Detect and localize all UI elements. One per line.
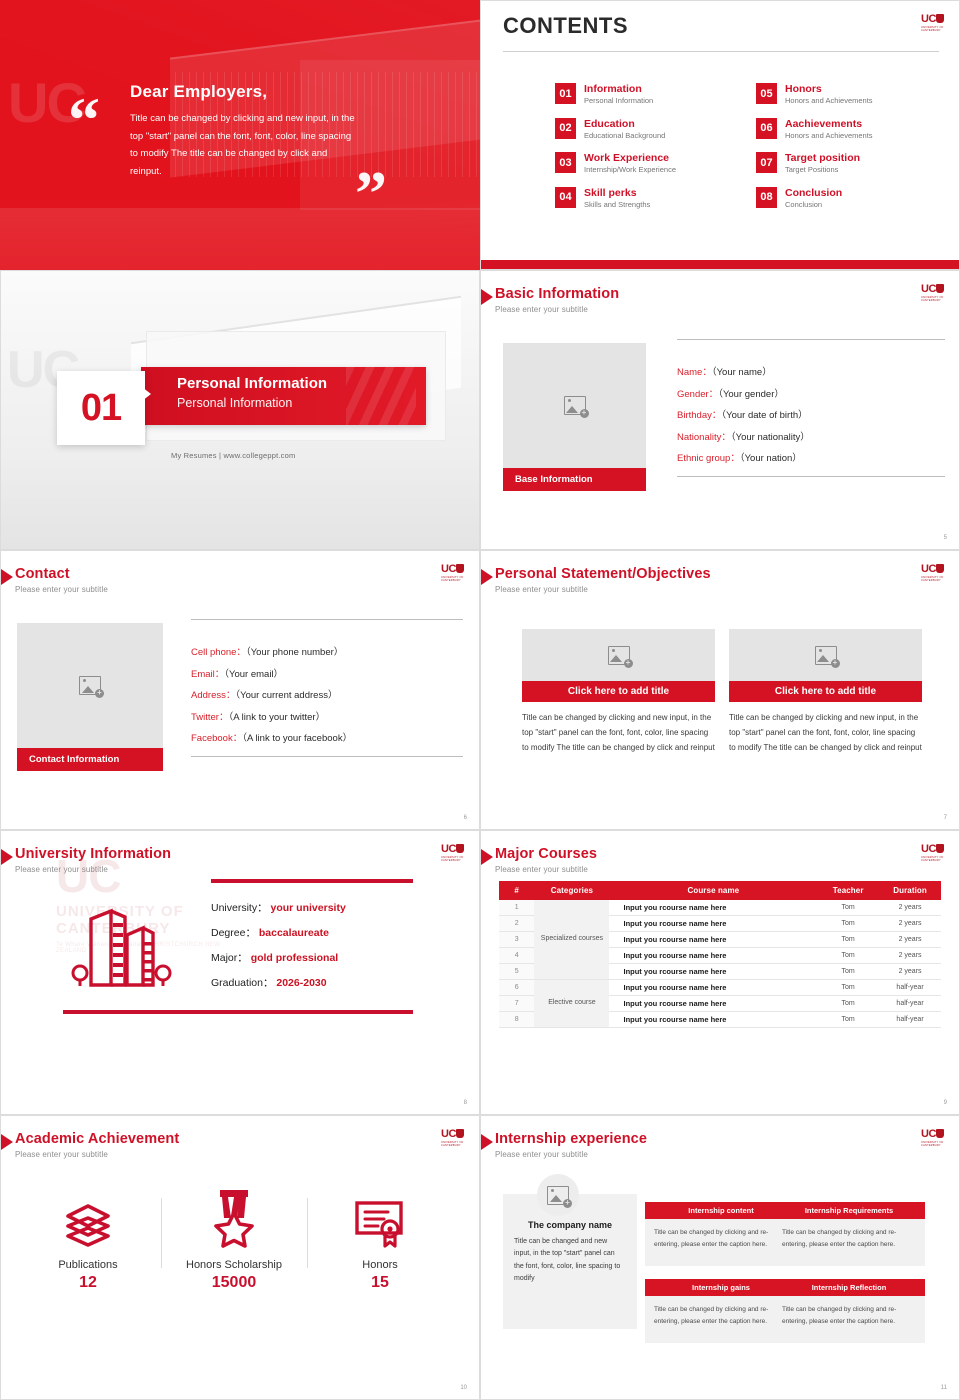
cover-ground [0, 208, 480, 270]
table-category-cell: Elective course [534, 980, 609, 1028]
company-logo-placeholder[interactable]: + [537, 1174, 579, 1216]
uc-shield-icon [936, 1129, 944, 1138]
internship-cell-title: Internship Reflection [773, 1279, 925, 1296]
table-duration-cell: 2 years [879, 964, 941, 980]
uc-logo: UC UNIVERSITY OF CANTERBURY [921, 1129, 947, 1148]
slide-personal-statement: Personal Statement/Objectives Please ent… [480, 550, 960, 830]
contents-item-title: Conclusion [785, 187, 842, 199]
uc-shield-icon [936, 564, 944, 573]
achievement-label: Honors [313, 1259, 447, 1271]
achievement-stat: Honors Scholarship15000 [161, 1186, 307, 1292]
page-title: Personal Statement/Objectives [495, 567, 711, 583]
university-field-row: Graduation： 2026-2030 [211, 971, 413, 996]
page-subtitle: Please enter your subtitle [495, 1150, 647, 1159]
contents-item-number: 03 [555, 152, 576, 173]
internship-cell[interactable]: Internship RequirementsTitle can be chan… [773, 1202, 925, 1266]
internship-cell-body: Title can be changed by clicking and re-… [773, 1219, 925, 1266]
contents-item-03[interactable]: 03Work ExperienceInternship/Work Experie… [555, 152, 734, 174]
slide-cover: UC “ ” Dear Employers, Title can be chan… [0, 0, 480, 270]
page-number: 8 [464, 1100, 467, 1106]
table-col-header: Teacher [817, 881, 879, 900]
quote-open-icon: “ [68, 88, 100, 152]
info-key: Email： [191, 669, 224, 680]
achievement-label: Publications [21, 1259, 155, 1271]
table-teacher-cell: Tom [817, 948, 879, 964]
info-value[interactable]: （A link to your facebook） [242, 733, 352, 744]
info-value[interactable]: （Your date of birth） [721, 410, 807, 421]
page-number: 7 [944, 815, 947, 821]
contents-item-05[interactable]: 05HonorsHonors and Achievements [756, 83, 935, 105]
table-duration-cell: 2 years [879, 916, 941, 932]
page-number: 6 [464, 815, 467, 821]
info-key: Facebook： [191, 733, 242, 744]
image-placeholder-icon: + [564, 396, 586, 415]
contact-photo-card[interactable]: + Contact Information [17, 623, 163, 771]
page-title: Academic Achievement [15, 1132, 179, 1148]
uc-logo: UC UNIVERSITY OF CANTERBURY [441, 564, 467, 583]
table-course-cell[interactable]: Input you rcourse name here [609, 980, 817, 996]
contents-item-number: 02 [555, 118, 576, 139]
page-number: 5 [944, 535, 947, 541]
slide-major-courses: Major Courses Please enter your subtitle… [480, 830, 960, 1115]
uc-shield-icon [456, 1129, 464, 1138]
section-footer: My Resumes | www.collegeppt.com [171, 451, 295, 460]
university-fields-block: University： your universityDegree： bacca… [63, 879, 413, 1014]
card-description: Title can be changed by clicking and new… [729, 711, 922, 755]
table-course-cell[interactable]: Input you rcourse name here [609, 996, 817, 1012]
table-course-cell[interactable]: Input you rcourse name here [609, 964, 817, 980]
section-arrow-icon [1, 1134, 13, 1150]
table-index-cell: 4 [499, 948, 534, 964]
table-index-cell: 8 [499, 1012, 534, 1028]
info-row: Address：（Your current address） [191, 685, 463, 707]
info-value[interactable]: （Your nationality） [731, 432, 810, 443]
table-teacher-cell: Tom [817, 900, 879, 916]
uc-logo: UC UNIVERSITY OF CANTERBURY [441, 844, 467, 863]
cover-body: Title can be changed by clicking and new… [130, 110, 360, 180]
table-teacher-cell: Tom [817, 964, 879, 980]
company-description: Title can be changed and new input, in t… [514, 1236, 626, 1285]
statement-card[interactable]: +Click here to add titleTitle can be cha… [729, 629, 922, 755]
table-teacher-cell: Tom [817, 916, 879, 932]
table-category-cell: Specialized courses [534, 900, 609, 980]
table-index-cell: 5 [499, 964, 534, 980]
table-index-cell: 7 [499, 996, 534, 1012]
cover-text-block: Dear Employers, Title can be changed by … [130, 82, 360, 180]
section-arrow-icon [481, 1134, 493, 1150]
uc-logo: UC UNIVERSITY OF CANTERBURY [921, 284, 947, 303]
internship-cell[interactable]: Internship ReflectionTitle can be change… [773, 1279, 925, 1343]
slide-contact: Contact Please enter your subtitle UC UN… [0, 550, 480, 830]
achievement-stat: Honors15 [307, 1186, 453, 1292]
table-index-cell: 6 [499, 980, 534, 996]
internship-cell-title: Internship Requirements [773, 1202, 925, 1219]
section-number: 01 [81, 387, 121, 430]
contents-item-subtitle: Conclusion [785, 200, 842, 209]
info-value[interactable]: （Your name） [712, 367, 772, 378]
table-course-cell[interactable]: Input you rcourse name here [609, 916, 817, 932]
table-row: 6Elective courseInput you rcourse name h… [499, 980, 941, 996]
contents-item-title: Target position [785, 152, 860, 164]
uc-shield-icon [936, 284, 944, 293]
page-title: Internship experience [495, 1132, 647, 1148]
university-field-key: Degree： [211, 927, 256, 939]
info-key: Twitter： [191, 712, 228, 723]
table-course-cell[interactable]: Input you rcourse name here [609, 948, 817, 964]
table-course-cell[interactable]: Input you rcourse name here [609, 900, 817, 916]
achievement-label: Honors Scholarship [167, 1259, 301, 1271]
info-row: Nationality：（Your nationality） [677, 427, 945, 449]
table-duration-cell: half-year [879, 1012, 941, 1028]
image-placeholder-icon: + [608, 646, 630, 665]
contents-item-subtitle: Target Positions [785, 165, 860, 174]
slide-contents: CONTENTS UC UNIVERSITY OF CANTERBURY 01I… [480, 0, 960, 270]
statement-header: Personal Statement/Objectives Please ent… [495, 567, 711, 594]
uc-shield-icon [456, 564, 464, 573]
image-placeholder-icon: + [547, 1186, 569, 1205]
contents-item-subtitle: Skills and Strengths [584, 200, 650, 209]
info-key: Address： [191, 690, 235, 701]
page-subtitle: Please enter your subtitle [15, 865, 171, 874]
contents-item-07[interactable]: 07Target positionTarget Positions [756, 152, 935, 174]
internship-cell-body: Title can be changed by clicking and re-… [773, 1296, 925, 1343]
uc-shield-icon [936, 14, 944, 23]
basic-header: Basic Information Please enter your subt… [495, 287, 619, 314]
page-title: University Information [15, 847, 171, 863]
photo-placeholder[interactable]: + [503, 343, 646, 468]
university-field-row: University： your university [211, 896, 413, 921]
certificate-icon [313, 1186, 447, 1248]
section-title-bar: Personal Information Personal Informatio… [141, 367, 426, 425]
courses-table: #CategoriesCourse nameTeacherDuration 1S… [499, 881, 941, 1028]
section-number-box: 01 [57, 371, 145, 445]
uc-logo-subtitle: UNIVERSITY OF CANTERBURY [921, 576, 947, 582]
contents-title: CONTENTS [503, 13, 628, 39]
table-header-row: #CategoriesCourse nameTeacherDuration [499, 881, 941, 900]
section-bar-slash-decor [346, 367, 416, 425]
contact-header: Contact Please enter your subtitle [15, 567, 108, 594]
info-value[interactable]: （A link to your twitter） [228, 712, 325, 723]
table-index-cell: 1 [499, 900, 534, 916]
info-row: Ethnic group：（Your nation） [677, 448, 945, 470]
table-duration-cell: 2 years [879, 948, 941, 964]
card-caption-button[interactable]: Click here to add title [522, 681, 715, 702]
photo-placeholder[interactable]: + [17, 623, 163, 748]
contents-item-title: Information [584, 83, 653, 95]
slide-section-divider: UC Personal Information Personal Informa… [0, 270, 480, 550]
table-row: 1Specialized coursesInput you rcourse na… [499, 900, 941, 916]
table-col-header: Course name [609, 881, 817, 900]
slide-academic-achievement: Academic Achievement Please enter your s… [0, 1115, 480, 1400]
statement-card[interactable]: +Click here to add titleTitle can be cha… [522, 629, 715, 755]
uc-logo-subtitle: UNIVERSITY OF CANTERBURY [441, 1141, 467, 1147]
card-caption-button[interactable]: Click here to add title [729, 681, 922, 702]
slide-deck: UC “ ” Dear Employers, Title can be chan… [0, 0, 960, 1400]
internship-company-card: The company name Title can be changed an… [503, 1194, 637, 1329]
page-title: Contact [15, 567, 108, 583]
uc-logo-subtitle: UNIVERSITY OF CANTERBURY [441, 576, 467, 582]
contents-item-subtitle: Honors and Achievements [785, 96, 873, 105]
info-row: Name：（Your name） [677, 362, 945, 384]
medal-star-icon [167, 1186, 301, 1248]
books-icon [21, 1186, 155, 1248]
uc-logo: UC UNIVERSITY OF CANTERBURY [921, 844, 947, 863]
section-arrow-icon [481, 289, 493, 305]
info-bottom-rule [191, 756, 463, 757]
uc-logo-subtitle: UNIVERSITY OF CANTERBURY [921, 856, 947, 862]
uc-logo: UC UNIVERSITY OF CANTERBURY [921, 14, 947, 33]
achievement-stats-row: Publications12Honors Scholarship15000Hon… [15, 1186, 453, 1292]
info-key: Ethnic group： [677, 453, 740, 464]
contents-item-title: Education [584, 118, 665, 130]
achievement-stat: Publications12 [15, 1186, 161, 1292]
university-field-value[interactable]: baccalaureate [259, 927, 329, 939]
section-arrow-icon [1, 569, 13, 585]
section-arrow-icon [1, 849, 13, 865]
page-subtitle: Please enter your subtitle [15, 1150, 179, 1159]
contents-item-02[interactable]: 02EducationEducational Background [555, 118, 734, 140]
photo-placeholder[interactable]: + [522, 629, 715, 681]
university-bottom-bar [63, 1010, 413, 1014]
basic-photo-card[interactable]: + Base Information [503, 343, 646, 491]
card-description: Title can be changed by clicking and new… [522, 711, 715, 755]
info-key: Gender： [677, 389, 718, 400]
section-subtitle: Personal Information [177, 396, 292, 410]
info-row: Twitter：（A link to your twitter） [191, 707, 463, 729]
photo-placeholder[interactable]: + [729, 629, 922, 681]
contents-item-01[interactable]: 01InformationPersonal Information [555, 83, 734, 105]
contents-item-number: 01 [555, 83, 576, 104]
contents-item-subtitle: Personal Information [584, 96, 653, 105]
page-number: 10 [460, 1385, 467, 1391]
contents-item-08[interactable]: 08ConclusionConclusion [756, 187, 935, 209]
info-key: Birthday： [677, 410, 721, 421]
contents-item-number: 05 [756, 83, 777, 104]
contents-item-subtitle: Educational Background [584, 131, 665, 140]
page-title: Major Courses [495, 847, 597, 863]
page-subtitle: Please enter your subtitle [495, 305, 619, 314]
achievement-value: 15000 [167, 1274, 301, 1292]
info-value[interactable]: （Your current address） [235, 690, 337, 701]
contents-list: 01InformationPersonal Information05Honor… [555, 83, 935, 221]
table-teacher-cell: Tom [817, 980, 879, 996]
university-field-key: University： [211, 902, 268, 914]
contents-item-title: Skill perks [584, 187, 650, 199]
table-index-cell: 2 [499, 916, 534, 932]
contents-item-number: 07 [756, 152, 777, 173]
uc-shield-icon [936, 844, 944, 853]
page-subtitle: Please enter your subtitle [495, 865, 597, 874]
table-duration-cell: half-year [879, 980, 941, 996]
info-value[interactable]: （Your phone number） [246, 647, 343, 658]
uc-logo-subtitle: UNIVERSITY OF CANTERBURY [441, 856, 467, 862]
uc-logo-subtitle: UNIVERSITY OF CANTERBURY [921, 26, 947, 32]
table-col-header: Duration [879, 881, 941, 900]
university-field-value[interactable]: 2026-2030 [276, 977, 326, 989]
table-teacher-cell: Tom [817, 996, 879, 1012]
university-field-value[interactable]: gold professional [251, 952, 339, 964]
university-field-value[interactable]: your university [271, 902, 346, 914]
photo-caption: Base Information [503, 468, 646, 491]
info-row: Gender：（Your gender） [677, 384, 945, 406]
table-col-header: Categories [534, 881, 609, 900]
contents-item-06[interactable]: 06AachievementsHonors and Achievements [756, 118, 935, 140]
contact-info-list: Cell phone：（Your phone number）Email：（You… [191, 619, 463, 757]
section-arrow-icon [481, 849, 493, 865]
info-row: Facebook：（A link to your facebook） [191, 728, 463, 750]
info-bottom-rule [677, 476, 945, 477]
table-course-cell[interactable]: Input you rcourse name here [609, 932, 817, 948]
uc-logo: UC UNIVERSITY OF CANTERBURY [921, 564, 947, 583]
table-duration-cell: half-year [879, 996, 941, 1012]
info-row: Birthday：（Your date of birth） [677, 405, 945, 427]
contents-item-subtitle: Internship/Work Experience [584, 165, 676, 174]
achievement-header: Academic Achievement Please enter your s… [15, 1132, 179, 1159]
info-value[interactable]: （Your gender） [718, 389, 784, 400]
company-name: The company name [514, 1220, 626, 1230]
uc-shield-icon [456, 844, 464, 853]
uc-logo-subtitle: UNIVERSITY OF CANTERBURY [921, 296, 947, 302]
info-key: Name： [677, 367, 712, 378]
table-course-cell[interactable]: Input you rcourse name here [609, 1012, 817, 1028]
table-teacher-cell: Tom [817, 932, 879, 948]
section-title: Personal Information [177, 375, 327, 392]
info-key: Cell phone： [191, 647, 246, 658]
uc-logo: UC UNIVERSITY OF CANTERBURY [441, 1129, 467, 1148]
contents-item-subtitle: Honors and Achievements [785, 131, 873, 140]
page-subtitle: Please enter your subtitle [15, 585, 108, 594]
contents-bottom-bar [481, 260, 959, 269]
photo-caption: Contact Information [17, 748, 163, 771]
uc-logo-subtitle: UNIVERSITY OF CANTERBURY [921, 1141, 947, 1147]
section-bar-arrow-icon [142, 387, 151, 401]
contents-item-title: Work Experience [584, 152, 676, 164]
contents-item-title: Aachievements [785, 118, 873, 130]
achievement-value: 12 [21, 1274, 155, 1292]
university-field-key: Major： [211, 952, 248, 964]
university-field-key: Graduation： [211, 977, 273, 989]
contents-item-number: 08 [756, 187, 777, 208]
image-placeholder-icon: + [79, 676, 101, 695]
contents-item-04[interactable]: 04Skill perksSkills and Strengths [555, 187, 734, 209]
achievement-value: 15 [313, 1274, 447, 1292]
info-row: Cell phone：（Your phone number） [191, 642, 463, 664]
info-value[interactable]: （Your email） [224, 669, 283, 680]
table-col-header: # [499, 881, 534, 900]
info-key: Nationality： [677, 432, 731, 443]
contents-item-number: 06 [756, 118, 777, 139]
page-subtitle: Please enter your subtitle [495, 585, 711, 594]
cover-title: Dear Employers, [130, 82, 360, 102]
contents-item-number: 04 [555, 187, 576, 208]
table-teacher-cell: Tom [817, 1012, 879, 1028]
basic-info-list: Name：（Your name）Gender：（Your gender）Birt… [677, 339, 945, 477]
page-number: 9 [944, 1100, 947, 1106]
slide-internship-experience: Internship experience Please enter your … [480, 1115, 960, 1400]
contents-item-title: Honors [785, 83, 873, 95]
university-field-row: Degree： baccalaureate [211, 921, 413, 946]
contents-divider [503, 51, 939, 52]
university-field-row: Major： gold professional [211, 946, 413, 971]
page-number: 11 [941, 1385, 947, 1391]
info-row: Email：（Your email） [191, 664, 463, 686]
university-header: University Information Please enter your… [15, 847, 171, 874]
slide-basic-information: Basic Information Please enter your subt… [480, 270, 960, 550]
section-arrow-icon [481, 569, 493, 585]
internship-header: Internship experience Please enter your … [495, 1132, 647, 1159]
info-value[interactable]: （Your nation） [740, 453, 802, 464]
image-placeholder-icon: + [815, 646, 837, 665]
section-ground [1, 454, 479, 549]
slide-university-information: University Information Please enter your… [0, 830, 480, 1115]
page-title: Basic Information [495, 287, 619, 303]
table-duration-cell: 2 years [879, 932, 941, 948]
table-index-cell: 3 [499, 932, 534, 948]
courses-header: Major Courses Please enter your subtitle [495, 847, 597, 874]
table-duration-cell: 2 years [879, 900, 941, 916]
